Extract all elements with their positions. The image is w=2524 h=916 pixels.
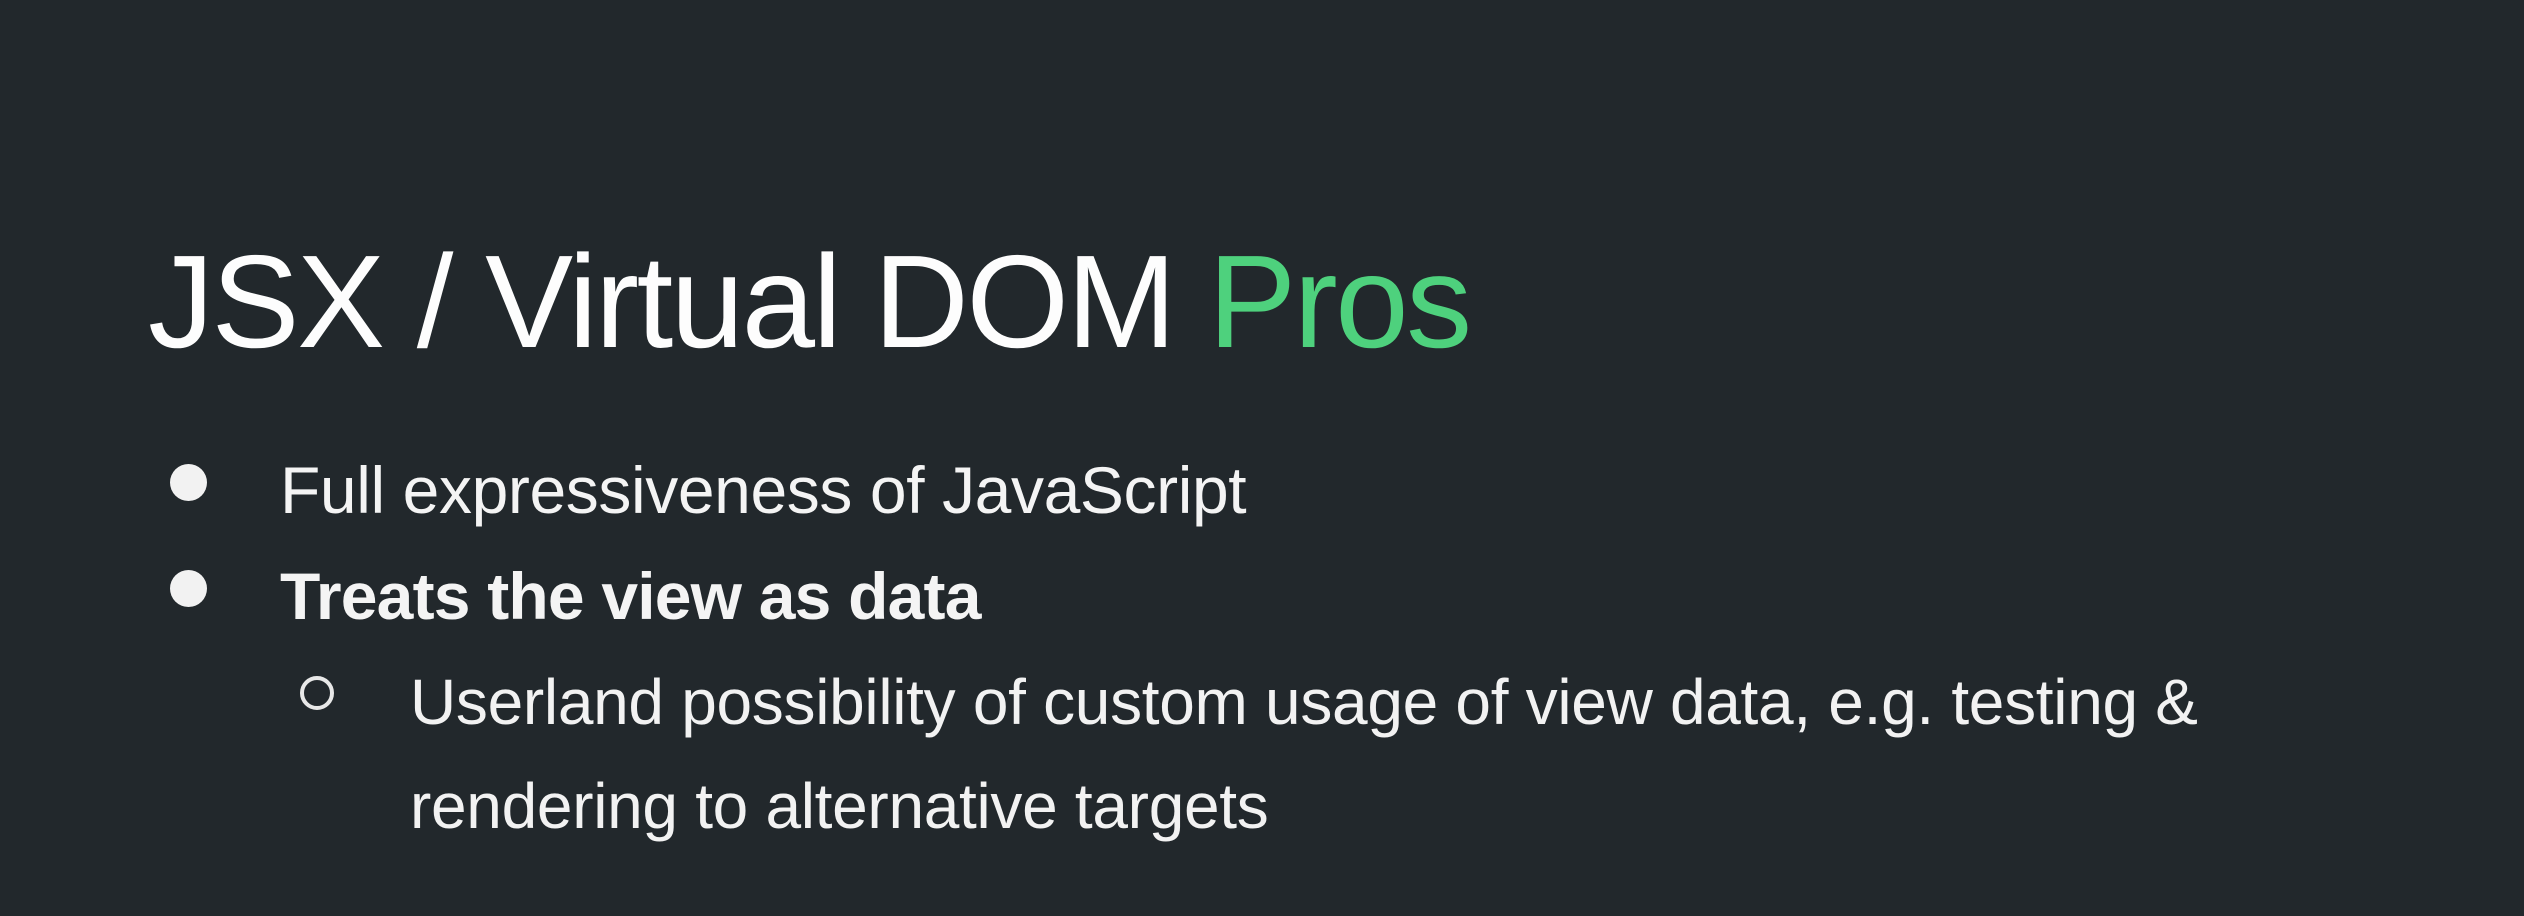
slide-title: JSX / Virtual DOM Pros	[148, 236, 1470, 368]
slide-title-accent: Pros	[1208, 228, 1469, 375]
list-item-label: Treats the view as data	[280, 544, 2524, 648]
slide-title-main: JSX / Virtual DOM	[148, 228, 1208, 375]
list-item: Full expressiveness of JavaScript	[0, 438, 2524, 542]
list-item-label: Full expressiveness of JavaScript	[280, 438, 2524, 542]
bullet-disc-icon	[170, 570, 207, 607]
bullet-circle-icon	[300, 676, 334, 710]
bullet-list: Full expressiveness of JavaScript Treats…	[0, 438, 2524, 858]
sub-list-item-label: Userland possibility of custom usage of …	[410, 650, 2414, 858]
presentation-slide: JSX / Virtual DOM Pros Full expressivene…	[0, 0, 2524, 916]
sub-list-item: Userland possibility of custom usage of …	[0, 650, 2524, 858]
bullet-disc-icon	[170, 464, 207, 501]
list-item: Treats the view as data	[0, 544, 2524, 648]
